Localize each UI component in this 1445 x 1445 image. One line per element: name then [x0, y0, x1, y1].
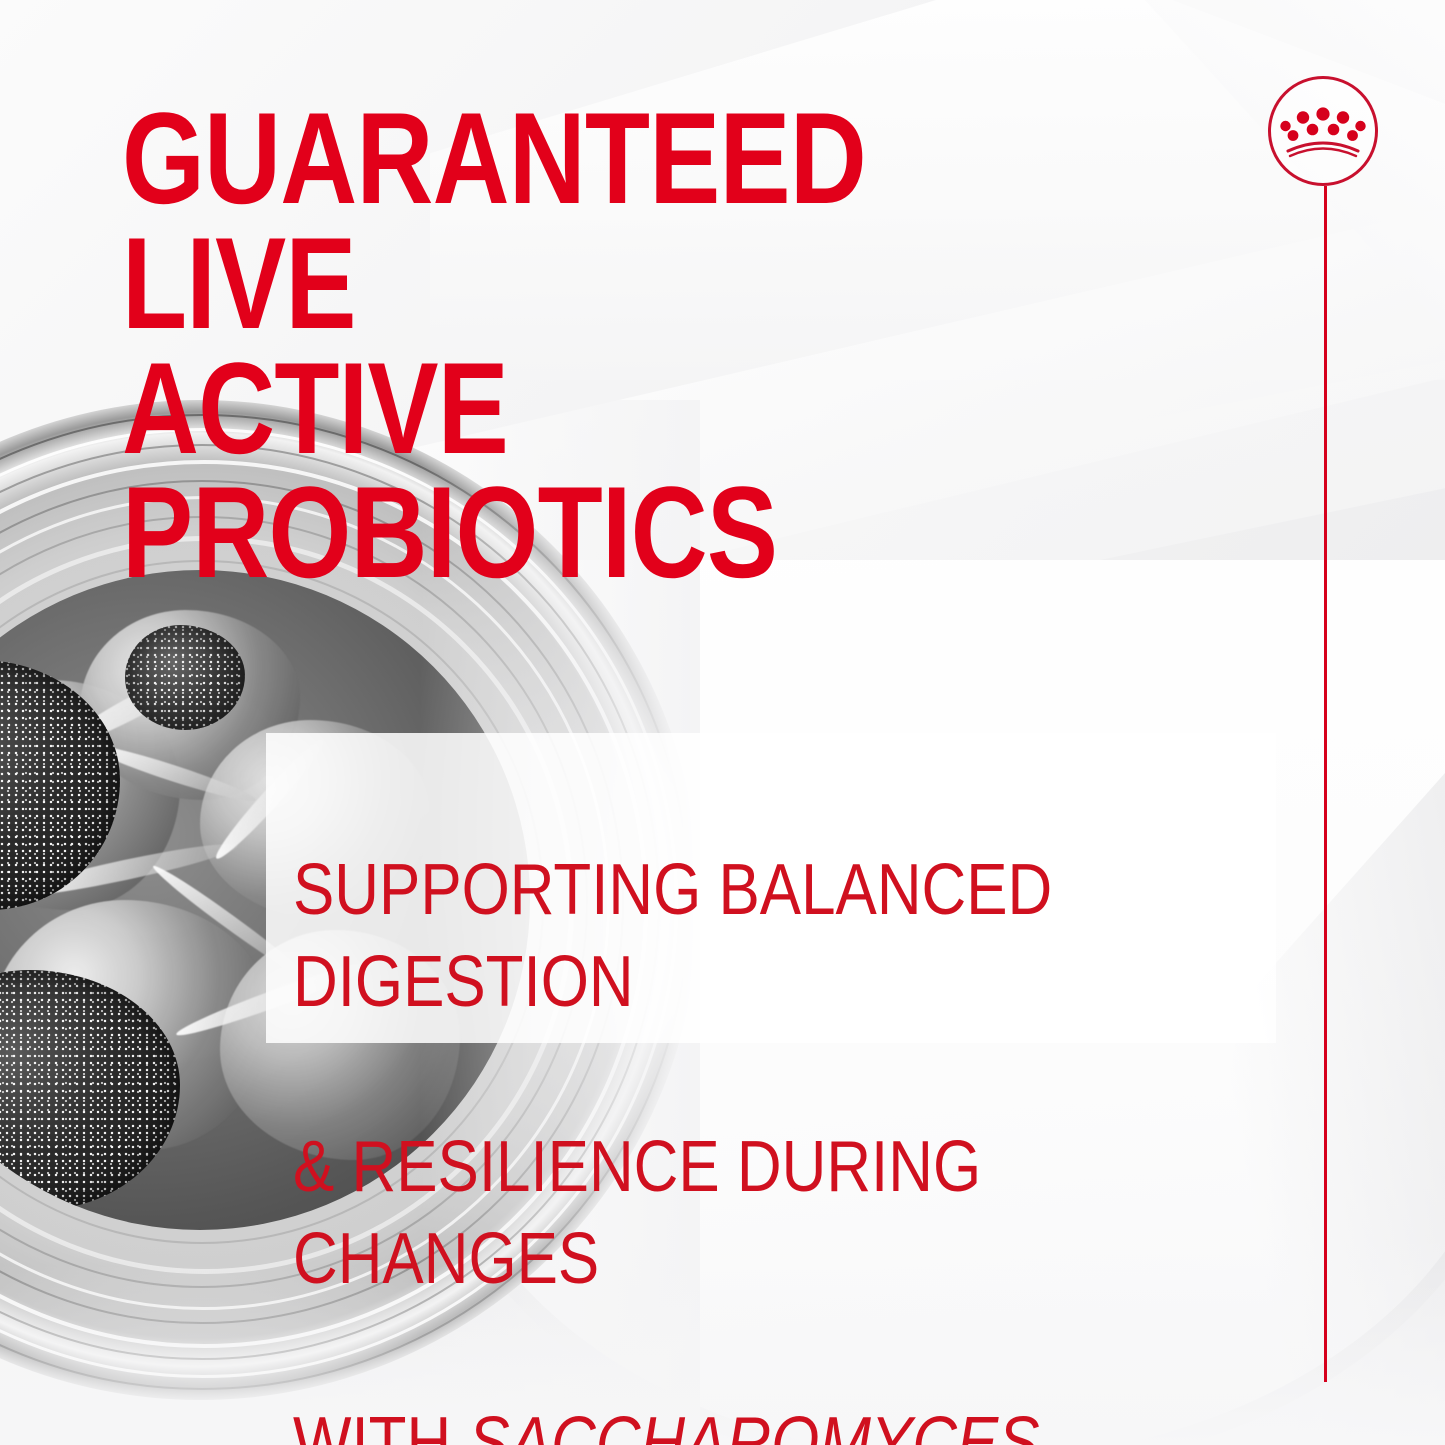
- broccoli-floret: [125, 625, 245, 730]
- marketing-banner: GUARANTEED LIVE ACTIVE PROBIOTICS SUPPOR…: [0, 0, 1445, 1445]
- vertical-red-connector-line: [1324, 186, 1327, 1382]
- body-copy-line-3: WITH SACCHAROMYCES BOULARDII: [293, 1397, 1153, 1445]
- royal-canin-crown-icon: [1280, 106, 1366, 158]
- body-copy-line-3-prefix: WITH: [293, 1403, 468, 1445]
- body-copy-line-1: SUPPORTING BALANCED DIGESTION: [293, 844, 1153, 1028]
- body-copy: SUPPORTING BALANCED DIGESTION & RESILIEN…: [293, 752, 1153, 1445]
- page-title: GUARANTEED LIVE ACTIVE PROBIOTICS: [122, 96, 1040, 595]
- body-copy-line-2: & RESILIENCE DURING CHANGES: [293, 1121, 1153, 1305]
